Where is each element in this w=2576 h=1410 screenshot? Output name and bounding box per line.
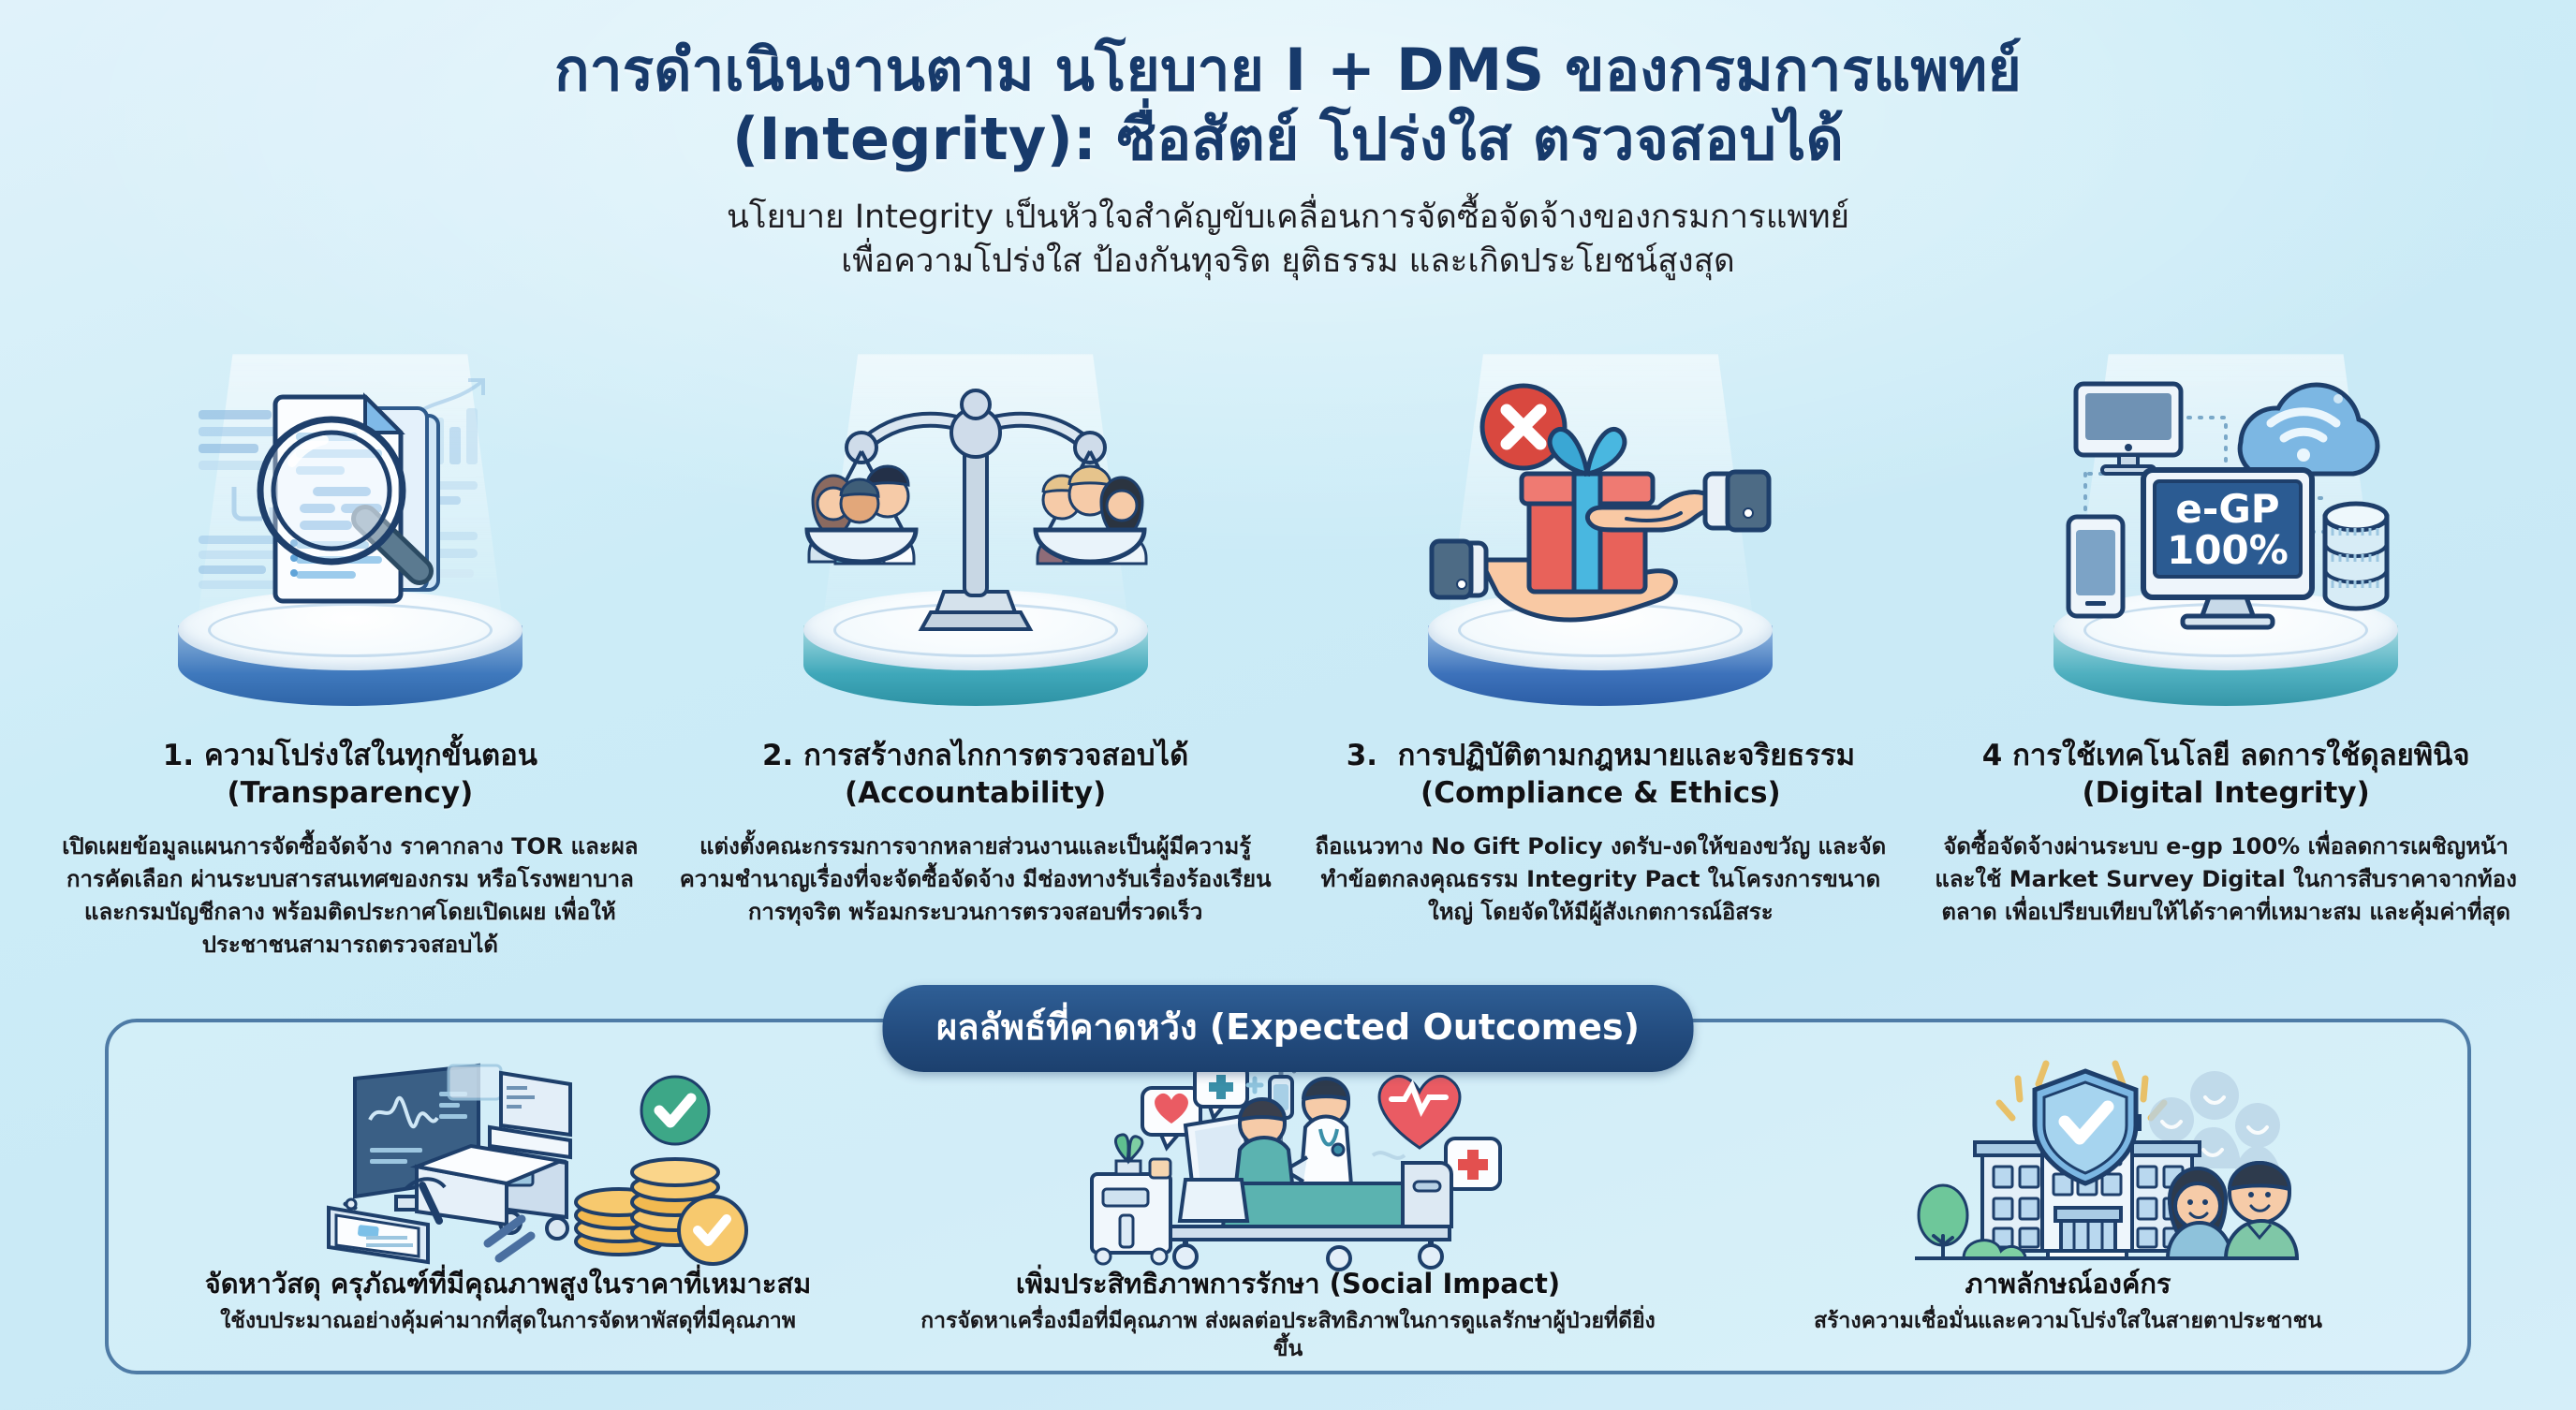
cloud-wifi-icon	[2240, 385, 2377, 474]
no-gift-hands-icon	[1432, 376, 1769, 657]
heart-pulse-icon	[1379, 1076, 1460, 1148]
title-line-2: (Integrity): ซื่อสัตย์ โปร่งใส ตรวจสอบได…	[206, 105, 2370, 174]
outcome-card-procurement: จัดหาวัสดุ ครุภัณฑ์ที่มีคุณภาพสูงในราคาท…	[118, 1054, 898, 1364]
pillar-4-title-en: (Digital Integrity)	[2083, 776, 2370, 810]
pillar-4-body: จัดซื้อจัดจ้างผ่านระบบ e-gp 100% เพื่อลด…	[1926, 830, 2525, 929]
outcome-2-title: เพิ่มประสิทธิภาพการรักษา (Social Impact)	[911, 1268, 1665, 1300]
building-shield-people-icon	[1691, 1054, 2445, 1268]
outcome-3-title: ภาพลักษณ์องค์กร	[1691, 1268, 2445, 1300]
pillar-1-title-en: (Transparency)	[227, 776, 473, 810]
pillar-4-artwork: e-GP 100%	[1926, 348, 2525, 723]
egp-digital-network-icon: e-GP 100%	[2057, 376, 2394, 657]
doctor-figure	[1285, 1079, 1352, 1197]
pillar-3-body: ถือแนวทาง No Gift Policy งดรับ-งดให้ของข…	[1302, 830, 1901, 929]
medical-equipment-coins-icon	[131, 1054, 885, 1268]
pillar-3-title: 3. การปฏิบัติตามกฎหมายและจริยธรรม (Compl…	[1302, 738, 1901, 812]
pillar-3-number: 3.	[1347, 739, 1377, 772]
expected-outcomes-panel: ผลลัพธ์ที่คาดหวัง (Expected Outcomes)	[105, 1019, 2471, 1374]
pillar-2-title-en: (Accountability)	[845, 776, 1106, 810]
pillar-2-artwork	[676, 348, 1275, 723]
egp-monitor: e-GP 100%	[2143, 470, 2312, 627]
pillar-card-compliance: 3. การปฏิบัติตามกฎหมายและจริยธรรม (Compl…	[1288, 348, 1914, 962]
infographic-poster: การดำเนินงานตาม นโยบาย I + DMS ของกรมการ…	[0, 0, 2576, 1410]
header: การดำเนินงานตาม นโยบาย I + DMS ของกรมการ…	[0, 36, 2576, 284]
pillar-1-artwork	[51, 348, 650, 723]
coin-stack	[576, 1159, 746, 1264]
outcomes-grid: จัดหาวัสดุ ครุภัณฑ์ที่มีคุณภาพสูงในราคาท…	[118, 1054, 2458, 1363]
pillars-row: 1. ความโปร่งใสในทุกขั้นตอน (Transparency…	[37, 348, 2539, 962]
pillar-2-body: แต่งตั้งคณะกรรมการจากหลายส่วนงานและเป็นผ…	[676, 830, 1275, 929]
screen-label-egp: e-GP	[2176, 486, 2280, 532]
subtitle-line-1: นโยบาย Integrity เป็นหัวใจสำคัญขับเคลื่อ…	[393, 196, 2183, 240]
tree	[1919, 1185, 1967, 1258]
hospital-bed-care-icon	[911, 1054, 1665, 1268]
screen-label-percent: 100%	[2167, 527, 2289, 573]
pillar-4-title: 4 การใช้เทคโนโลยี ลดการใช้ดุลยพินิจ (Dig…	[1926, 738, 2525, 812]
pillar-1-title: 1. ความโปร่งใสในทุกขั้นตอน (Transparency…	[51, 738, 650, 812]
bedside-table	[1092, 1135, 1170, 1264]
outcome-1-sub: ใช้งบประมาณอย่างคุ้มค่ามากที่สุดในการจัด…	[131, 1308, 885, 1336]
document-magnifier-icon	[182, 376, 519, 657]
check-badge-icon	[641, 1077, 709, 1144]
medical-cross-bubble-icon	[1195, 1065, 1247, 1118]
pillar-4-title-th: การใช้เทคโนโลยี ลดการใช้ดุลยพินิจ	[2012, 739, 2469, 772]
red-x-circle-icon	[1482, 386, 1565, 468]
pillar-2-title: 2. การสร้างกลไกการตรวจสอบได้ (Accountabi…	[676, 738, 1275, 812]
title-line-1: การดำเนินงานตาม นโยบาย I + DMS ของกรมการ…	[206, 36, 2370, 105]
outcome-3-sub: สร้างความเชื่อมั่นและความโปร่งใสในสายตาป…	[1691, 1308, 2445, 1336]
red-cross-badge-icon	[1446, 1138, 1500, 1189]
pillar-3-title-th: การปฏิบัติตามกฎหมายและจริยธรรม	[1398, 739, 1855, 772]
pillar-3-title-en: (Compliance & Ethics)	[1420, 776, 1781, 810]
pillar-1-number: 1.	[163, 739, 194, 772]
pillar-card-transparency: 1. ความโปร่งใสในทุกขั้นตอน (Transparency…	[37, 348, 663, 962]
citizen-couple	[2168, 1163, 2297, 1258]
balance-scale-people-icon	[807, 376, 1144, 657]
database-icon	[2325, 504, 2387, 609]
pillar-card-digital: e-GP 100% 4 การใช้เทคโนโลยี ลดการใช้ดุลย…	[1913, 348, 2539, 962]
pillar-2-number: 2.	[762, 739, 793, 772]
pillar-1-body: เปิดเผยข้อมูลแผนการจัดซื้อจัดจ้าง ราคากล…	[51, 830, 650, 962]
outcome-card-social-impact: เพิ่มประสิทธิภาพการรักษา (Social Impact)…	[898, 1054, 1678, 1364]
outcome-1-title: จัดหาวัสดุ ครุภัณฑ์ที่มีคุณภาพสูงในราคาท…	[131, 1268, 885, 1300]
pillar-3-artwork	[1302, 348, 1901, 723]
outcome-card-organization-image: ภาพลักษณ์องค์กร สร้างความเชื่อมั่นและควา…	[1678, 1054, 2458, 1364]
outcome-2-sub: การจัดหาเครื่องมือที่มีคุณภาพ ส่งผลต่อปร…	[911, 1308, 1665, 1364]
page-title: การดำเนินงานตาม นโยบาย I + DMS ของกรมการ…	[0, 36, 2576, 175]
outcomes-banner-title: ผลลัพธ์ที่คาดหวัง (Expected Outcomes)	[882, 985, 1694, 1072]
monitor-small-icon	[2076, 384, 2181, 474]
pillar-2-title-th: การสร้างกลไกการตรวจสอบได้	[803, 739, 1188, 772]
subtitle-line-2: เพื่อความโปร่งใส ป้องกันทุจริต ยุติธรรม …	[393, 240, 2183, 284]
pillar-card-accountability: 2. การสร้างกลไกการตรวจสอบได้ (Accountabi…	[663, 348, 1288, 962]
pillar-4-number: 4	[1982, 739, 2003, 772]
smartphone-icon	[2068, 517, 2123, 616]
page-subtitle: นโยบาย Integrity เป็นหัวใจสำคัญขับเคลื่อ…	[0, 196, 2576, 284]
pillar-1-title-th: ความโปร่งใสในทุกขั้นตอน	[204, 739, 537, 772]
